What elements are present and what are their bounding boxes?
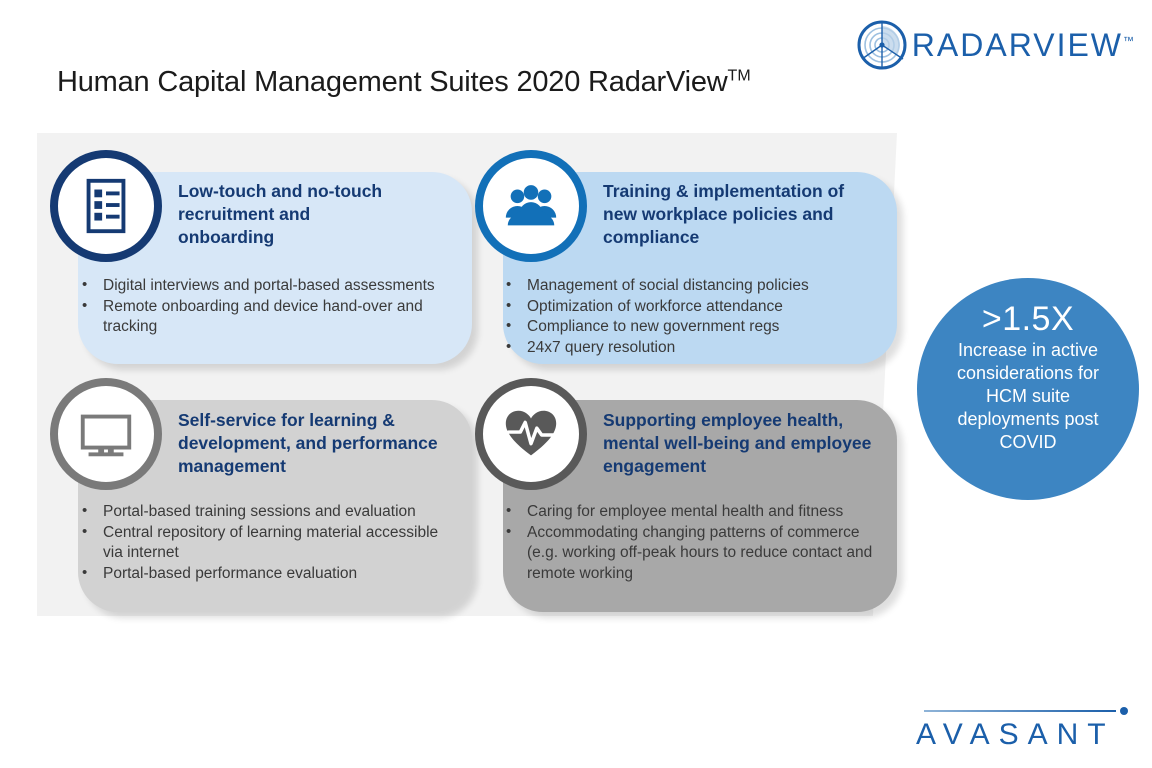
- list-item: Portal-based performance evaluation: [76, 564, 456, 585]
- avasant-logo-rule: [924, 710, 1116, 712]
- quadrant-bullets-training: Management of social distancing policies…: [500, 276, 900, 358]
- list-item: Portal-based training sessions and evalu…: [76, 502, 456, 523]
- page-title-trademark: TM: [728, 67, 751, 84]
- stat-description: Increase in active considerations for HC…: [943, 339, 1113, 454]
- radarview-logo: RADARVIEW™: [856, 18, 1134, 72]
- monitor-screen-icon: [50, 378, 162, 490]
- list-item: Caring for employee mental health and fi…: [500, 502, 890, 523]
- radarview-wordmark: RADARVIEW™: [912, 27, 1134, 64]
- stat-value: >1.5X: [982, 300, 1074, 338]
- page-title: Human Capital Management Suites 2020 Rad…: [57, 66, 751, 99]
- page-title-text: Human Capital Management Suites 2020 Rad…: [57, 66, 728, 98]
- list-item: Central repository of learning material …: [76, 523, 456, 564]
- quadrant-heading-employee-health: Supporting employee health, mental well-…: [603, 409, 881, 478]
- people-group-icon: [475, 150, 587, 262]
- list-item: 24x7 query resolution: [500, 338, 900, 359]
- avasant-logo-dot: [1120, 707, 1128, 715]
- stat-callout-circle: >1.5X Increase in active considerations …: [917, 278, 1139, 500]
- radar-target-icon: [856, 19, 908, 71]
- heart-pulse-icon: [475, 378, 587, 490]
- quadrant-bullets-recruitment: Digital interviews and portal-based asse…: [76, 276, 446, 338]
- radarview-trademark: ™: [1123, 35, 1134, 47]
- list-item: Compliance to new government regs: [500, 317, 900, 338]
- list-item: Management of social distancing policies: [500, 276, 900, 297]
- radarview-wordmark-text: RADARVIEW: [912, 27, 1123, 63]
- list-item: Digital interviews and portal-based asse…: [76, 276, 446, 297]
- quadrant-bullets-self-service: Portal-based training sessions and evalu…: [76, 502, 456, 584]
- quadrant-heading-training: Training & implementation of new workpla…: [603, 180, 883, 249]
- list-item: Accommodating changing patterns of comme…: [500, 523, 890, 585]
- avasant-wordmark: AVASANT: [916, 718, 1115, 752]
- list-item: Remote onboarding and device hand-over a…: [76, 297, 446, 338]
- list-item: Optimization of workforce attendance: [500, 297, 900, 318]
- quadrant-bullets-employee-health: Caring for employee mental health and fi…: [500, 502, 890, 584]
- checklist-document-icon: [50, 150, 162, 262]
- quadrant-heading-self-service: Self-service for learning & development,…: [178, 409, 440, 478]
- quadrant-heading-recruitment: Low-touch and no-touch recruitment and o…: [178, 180, 408, 249]
